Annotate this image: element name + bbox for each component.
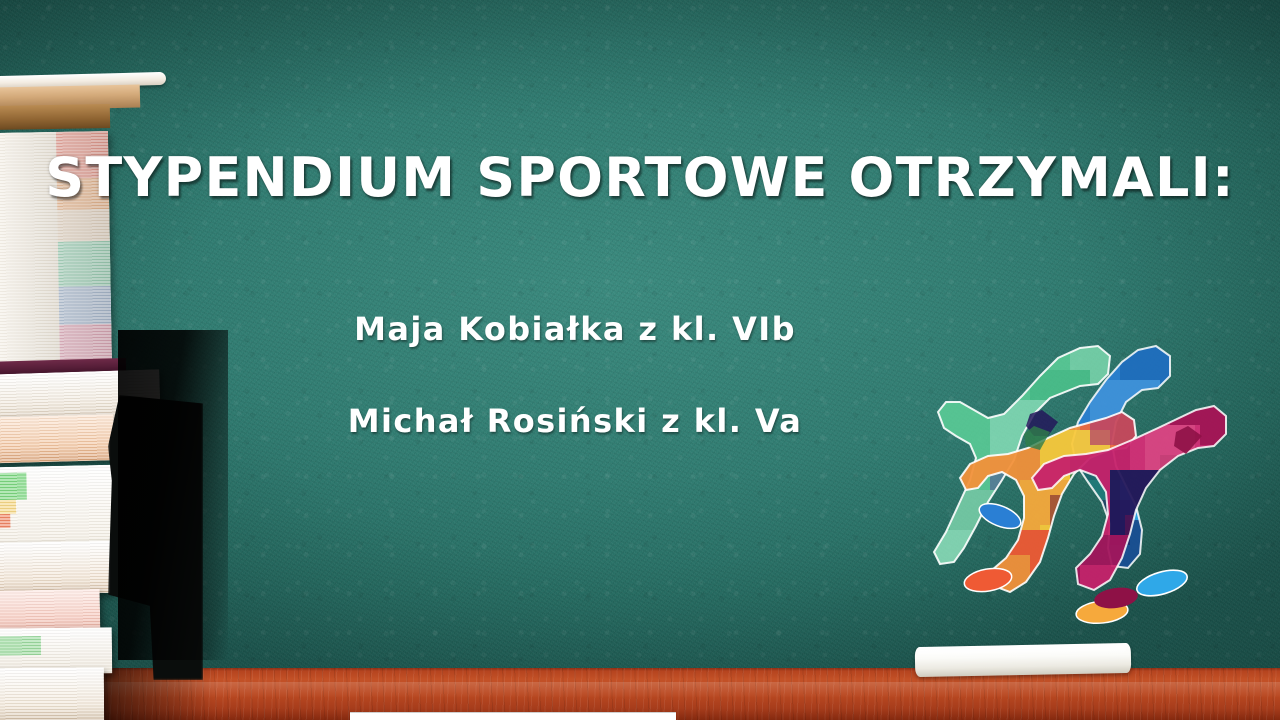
- slide-title: STYPENDIUM SPORTOWE OTRZYMALI:: [0, 146, 1280, 209]
- presentation-slide: STYPENDIUM SPORTOWE OTRZYMALI: Maja Kobi…: [0, 0, 1280, 720]
- book-2: [0, 104, 110, 130]
- bottom-white-bar: [350, 712, 676, 720]
- recipients-list: Maja Kobiałka z kl. VIb Michał Rosiński …: [0, 310, 1280, 494]
- recipient-line: Maja Kobiałka z kl. VIb: [0, 310, 1280, 348]
- book-11: [0, 668, 104, 720]
- chalk-stick: [915, 643, 1132, 677]
- book-8: [0, 541, 112, 595]
- recipient-line: Michał Rosiński z kl. Va: [0, 402, 1280, 440]
